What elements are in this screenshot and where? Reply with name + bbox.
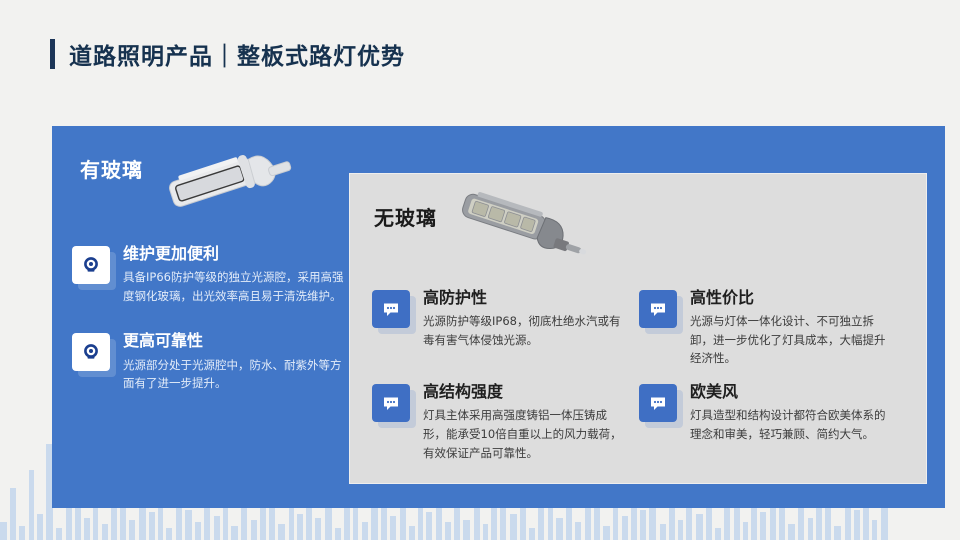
feature-body: 光源部分处于光源腔中，防水、耐紫外等方面有了进一步提升。 bbox=[123, 356, 352, 393]
decorative-bar bbox=[696, 514, 703, 540]
decorative-bar bbox=[715, 528, 721, 540]
feature-text: 高防护性 光源防护等级IP68，彻底杜绝水汽或有毒有害气体侵蚀光源。 bbox=[423, 288, 625, 349]
left-panel-caption: 有玻璃 bbox=[80, 154, 143, 183]
right-panel-caption: 无玻璃 bbox=[374, 202, 437, 231]
decorative-bar bbox=[56, 528, 62, 540]
decorative-bar bbox=[743, 522, 748, 540]
decorative-bar bbox=[585, 504, 591, 540]
decorative-bar bbox=[603, 526, 610, 540]
decorative-bar bbox=[362, 522, 368, 540]
decorative-bar bbox=[640, 510, 646, 540]
inner-gray-panel: 无玻璃 bbox=[349, 173, 927, 484]
decorative-bar bbox=[463, 520, 470, 540]
decorative-bar bbox=[788, 524, 795, 540]
feature-item: 维护更加便利 具备IP66防护等级的独立光源腔，采用高强度钢化玻璃，出光效率高且… bbox=[72, 244, 352, 305]
feature-heading: 高性价比 bbox=[690, 288, 892, 307]
grid-cell: 高结构强度 灯具主体采用高强度铸铝一体压铸成形，能承受10倍自重以上的风力载荷，… bbox=[372, 368, 639, 462]
lock-circle-icon bbox=[72, 246, 110, 284]
decorative-bar bbox=[185, 510, 192, 540]
feature-text: 欧美风 灯具造型和结构设计都符合欧美体系的理念和审美，轻巧兼顾、简约大气。 bbox=[690, 382, 892, 443]
right-lamp-row: 无玻璃 bbox=[372, 192, 906, 268]
decorative-bar bbox=[37, 514, 43, 540]
feature-heading: 维护更加便利 bbox=[123, 244, 352, 263]
decorative-bar bbox=[315, 518, 321, 540]
feature-body: 灯具造型和结构设计都符合欧美体系的理念和审美，轻巧兼顾、简约大气。 bbox=[690, 406, 892, 443]
decorative-bar bbox=[770, 506, 776, 540]
feature-text: 高性价比 光源与灯体一体化设计、不可独立拆卸，进一步优化了灯具成本，大幅提升经济… bbox=[690, 288, 892, 368]
feature-heading: 高结构强度 bbox=[423, 382, 625, 401]
decorative-bar bbox=[556, 518, 563, 540]
feature-heading: 更高可靠性 bbox=[123, 331, 352, 350]
decorative-bar bbox=[575, 522, 581, 540]
decorative-bar bbox=[251, 520, 257, 540]
feature-item: 高结构强度 灯具主体采用高强度铸铝一体压铸成形，能承受10倍自重以上的风力载荷，… bbox=[372, 382, 625, 462]
grid-cell: 高性价比 光源与灯体一体化设计、不可独立拆卸，进一步优化了灯具成本，大幅提升经济… bbox=[639, 274, 906, 368]
decorative-bar bbox=[660, 524, 666, 540]
decorative-bar bbox=[214, 516, 220, 540]
decorative-bar bbox=[10, 488, 16, 540]
decorative-bar bbox=[129, 520, 135, 540]
decorative-bar bbox=[808, 518, 813, 540]
feature-body: 具备IP66防护等级的独立光源腔，采用高强度钢化玻璃，出光效率高且易于清洗维护。 bbox=[123, 268, 352, 305]
feature-item: 更高可靠性 光源部分处于光源腔中，防水、耐紫外等方面有了进一步提升。 bbox=[72, 331, 352, 392]
decorative-bar bbox=[149, 512, 155, 540]
feature-body: 光源防护等级IP68，彻底杜绝水汽或有毒有害气体侵蚀光源。 bbox=[423, 312, 625, 349]
decorative-bar bbox=[102, 524, 108, 540]
grid-cell: 高防护性 光源防护等级IP68，彻底杜绝水汽或有毒有害气体侵蚀光源。 bbox=[372, 274, 639, 368]
decorative-bar bbox=[0, 522, 7, 540]
decorative-bar bbox=[622, 516, 628, 540]
decorative-bar bbox=[529, 528, 535, 540]
decorative-bar bbox=[297, 514, 303, 540]
decorative-bar bbox=[854, 510, 860, 540]
decorative-bar bbox=[29, 470, 34, 540]
street-lamp-white-icon bbox=[162, 138, 297, 230]
feature-body: 光源与灯体一体化设计、不可独立拆卸，进一步优化了灯具成本，大幅提升经济性。 bbox=[690, 312, 892, 368]
street-lamp-gray-icon bbox=[454, 180, 594, 276]
chat-bubble-icon bbox=[639, 290, 677, 328]
lock-circle-icon bbox=[72, 333, 110, 371]
decorative-bar bbox=[872, 520, 877, 540]
grid-cell: 欧美风 灯具造型和结构设计都符合欧美体系的理念和审美，轻巧兼顾、简约大气。 bbox=[639, 368, 906, 462]
decorative-bar bbox=[335, 528, 341, 540]
decorative-bar bbox=[445, 522, 451, 540]
decorative-bar bbox=[426, 512, 432, 540]
decorative-bar bbox=[111, 506, 117, 540]
chat-bubble-icon bbox=[372, 384, 410, 422]
feature-text: 更高可靠性 光源部分处于光源腔中，防水、耐紫外等方面有了进一步提升。 bbox=[123, 331, 352, 392]
chat-bubble-icon bbox=[372, 290, 410, 328]
main-blue-panel: 有玻璃 bbox=[52, 126, 945, 508]
decorative-bar bbox=[84, 518, 90, 540]
decorative-bar bbox=[510, 514, 517, 540]
feature-text: 高结构强度 灯具主体采用高强度铸铝一体压铸成形，能承受10倍自重以上的风力载荷，… bbox=[423, 382, 625, 462]
feature-heading: 欧美风 bbox=[690, 382, 892, 401]
feature-heading: 高防护性 bbox=[423, 288, 625, 307]
chat-bubble-icon bbox=[639, 384, 677, 422]
decorative-bar bbox=[834, 526, 841, 540]
decorative-bar bbox=[483, 524, 488, 540]
decorative-bar bbox=[390, 516, 396, 540]
page-title-row: 道路照明产品｜整板式路灯优势 bbox=[0, 34, 405, 74]
decorative-bar bbox=[195, 522, 201, 540]
right-feature-grid: 高防护性 光源防护等级IP68，彻底杜绝水汽或有毒有害气体侵蚀光源。 bbox=[372, 274, 906, 462]
feature-text: 维护更加便利 具备IP66防护等级的独立光源腔，采用高强度钢化玻璃，出光效率高且… bbox=[123, 244, 352, 305]
page-title: 道路照明产品｜整板式路灯优势 bbox=[69, 37, 405, 71]
decorative-bar bbox=[371, 508, 378, 540]
feature-item: 高防护性 光源防护等级IP68，彻底杜绝水汽或有毒有害气体侵蚀光源。 bbox=[372, 288, 625, 349]
decorative-bar bbox=[500, 506, 506, 540]
feature-item: 高性价比 光源与灯体一体化设计、不可独立拆卸，进一步优化了灯具成本，大幅提升经济… bbox=[639, 288, 892, 368]
feature-item: 欧美风 灯具造型和结构设计都符合欧美体系的理念和审美，轻巧兼顾、简约大气。 bbox=[639, 382, 892, 443]
decorative-bar bbox=[166, 528, 172, 540]
decorative-bar bbox=[760, 512, 766, 540]
title-accent-bar bbox=[50, 39, 55, 69]
decorative-bar bbox=[231, 526, 238, 540]
decorative-bar bbox=[678, 520, 683, 540]
left-column: 有玻璃 bbox=[72, 140, 352, 393]
decorative-bar bbox=[278, 524, 285, 540]
decorative-bar bbox=[19, 526, 25, 540]
left-lamp-row: 有玻璃 bbox=[72, 140, 352, 226]
decorative-bar bbox=[409, 526, 415, 540]
feature-body: 灯具主体采用高强度铸铝一体压铸成形，能承受10倍自重以上的风力载荷，有效保证产品… bbox=[423, 406, 625, 462]
